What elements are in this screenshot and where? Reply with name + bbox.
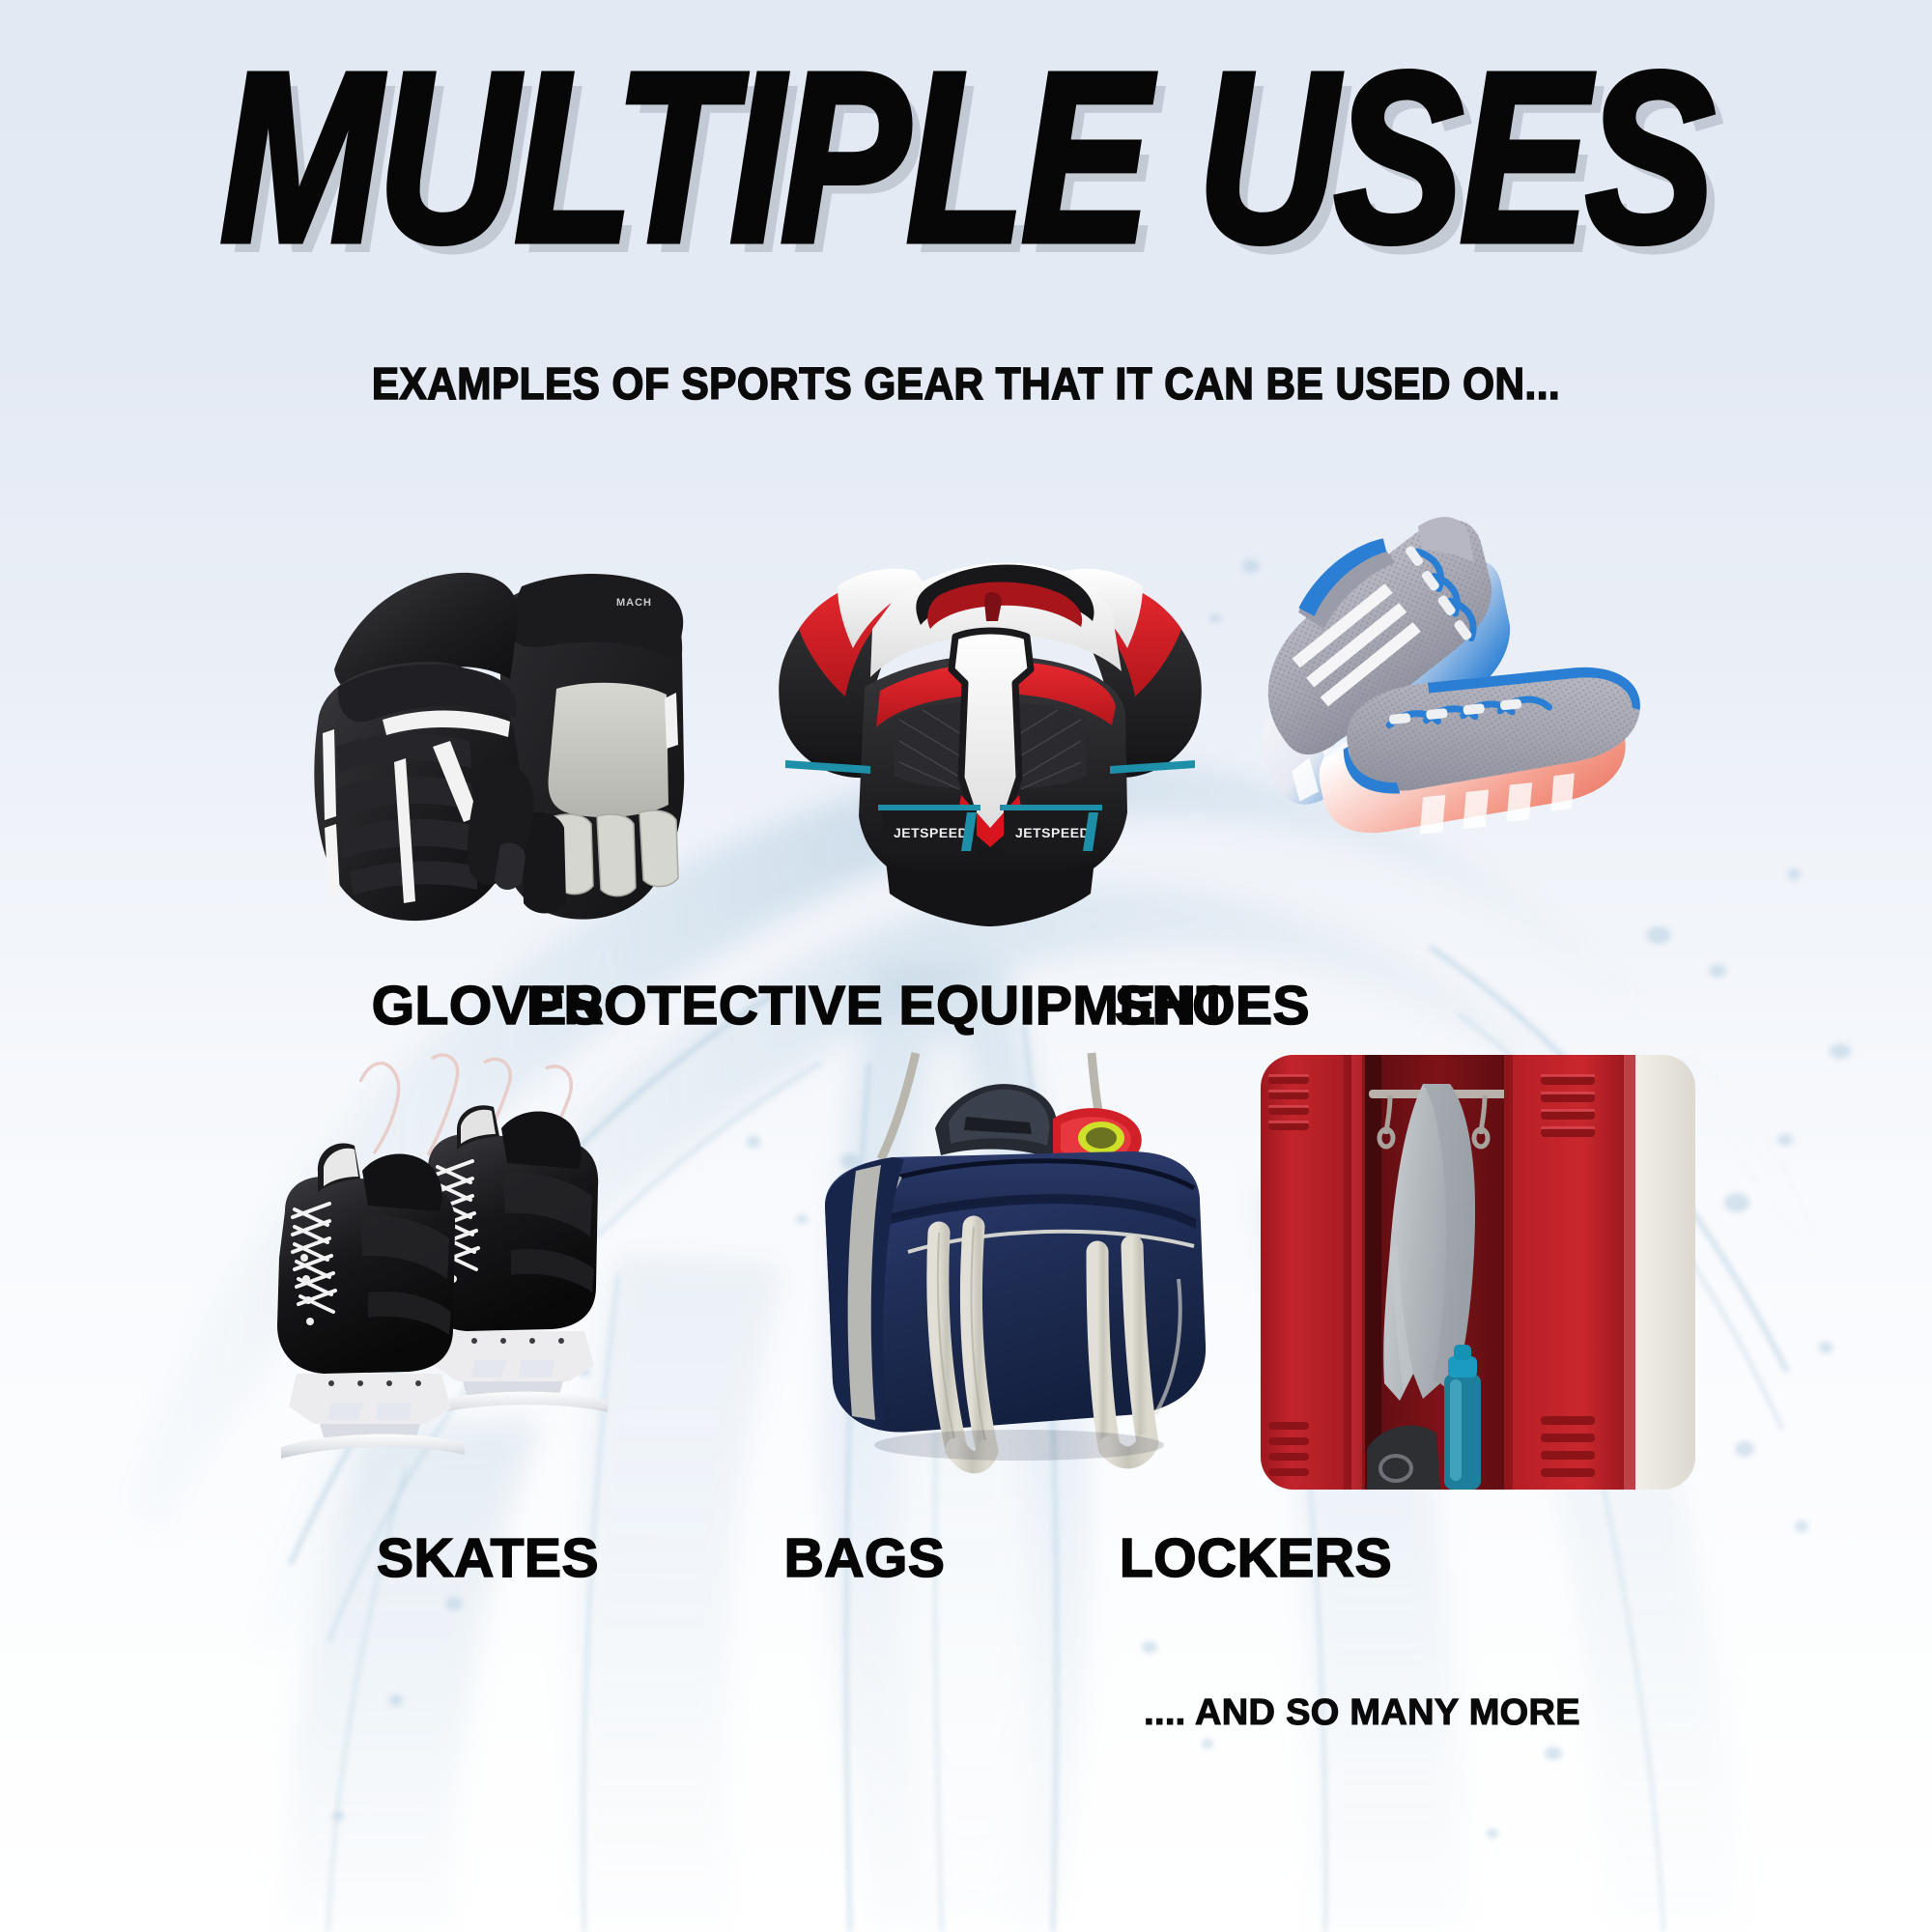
gear-item-skates[interactable] (256, 1053, 720, 1488)
page-title: MULTIPLE USES (220, 46, 1712, 269)
and-so-many-more-note: .... AND SO MANY MORE (1024, 1692, 1700, 1734)
hockey-gloves-photo: MACH (280, 526, 696, 932)
caption-skates: SKATES (270, 1526, 705, 1590)
caption-shoes: SHOES (995, 974, 1430, 1037)
gear-item-lockers[interactable] (1261, 1055, 1695, 1490)
red-lockers-photo (1261, 1055, 1695, 1490)
gear-item-shoes[interactable] (1232, 531, 1686, 937)
caption-lockers: LOCKERS (1038, 1526, 1473, 1590)
gear-item-bags[interactable] (811, 1063, 1256, 1497)
running-shoes-photo (1232, 531, 1686, 937)
gear-item-gloves[interactable]: MACH (280, 526, 696, 932)
caption-protective-equipment: PROTECTIVE EQUIPMENT (526, 974, 1048, 1037)
caption-bags: BAGS (647, 1526, 1082, 1590)
svg-text:JETSPEED: JETSPEED (1015, 825, 1090, 840)
shoulder-pads-photo: JETSPEED JETSPEED (749, 536, 1232, 942)
page-title-container: MULTIPLE USES (0, 46, 1932, 269)
page-subtitle: EXAMPLES OF SPORTS GEAR THAT IT CAN BE U… (77, 357, 1855, 410)
svg-text:JETSPEED: JETSPEED (894, 825, 968, 840)
duffel-bag-photo (811, 1063, 1256, 1497)
gear-item-protective-equipment[interactable]: JETSPEED JETSPEED (749, 536, 1232, 942)
svg-text:MACH: MACH (616, 597, 652, 609)
ice-skates-photo (256, 1053, 720, 1488)
